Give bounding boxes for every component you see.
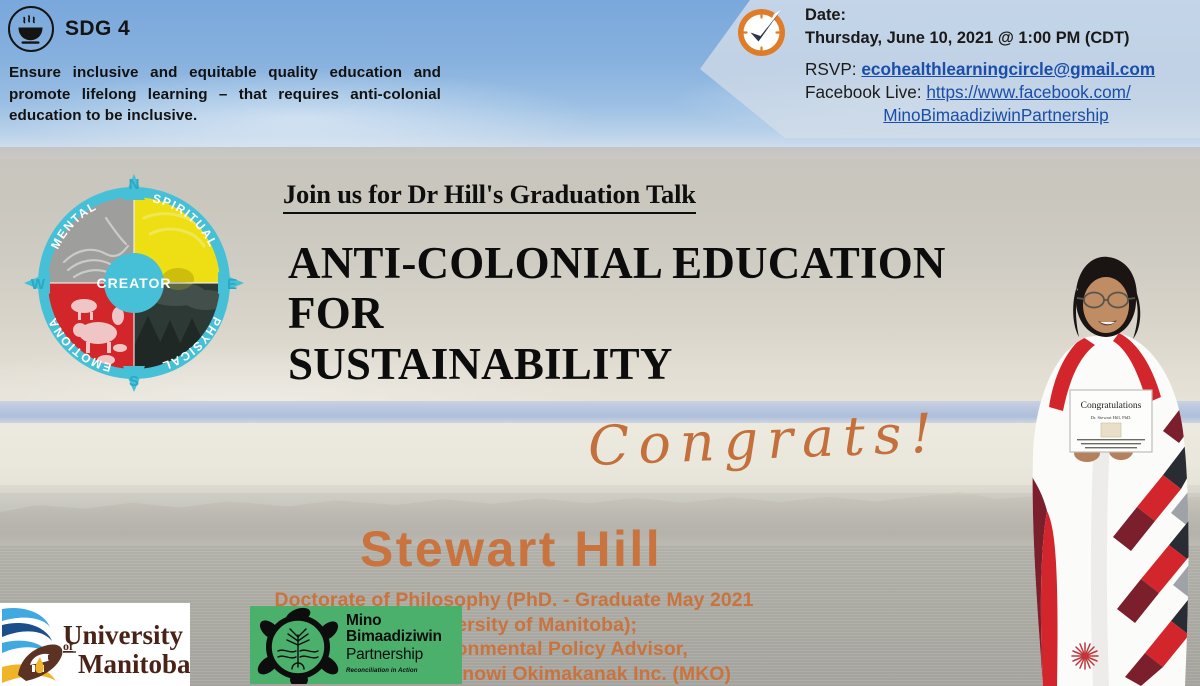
mino-line-1: Mino <box>346 613 442 629</box>
rsvp-label: RSVP: <box>805 59 861 79</box>
event-poster: SDG 4 Ensure inclusive and equitable qua… <box>0 0 1200 686</box>
rsvp-email-link[interactable]: ecohealthlearningcircle@gmail.com <box>861 59 1155 79</box>
title-line-3: SUSTAINABILITY <box>288 339 988 389</box>
uofm-wordmark-line1: University <box>63 620 183 650</box>
facebook-url-link-part2[interactable]: MinoBimaadiziwinPartnership <box>805 104 1200 127</box>
mino-line-2: Bimaadiziwin <box>346 629 442 645</box>
sdg-label: SDG 4 <box>65 17 130 41</box>
sdg-description: Ensure inclusive and equitable quality e… <box>9 62 441 127</box>
mino-line-3: Partnership <box>346 646 442 664</box>
date-label: Date: <box>805 4 1200 27</box>
page-title: ANTI-COLONIAL EDUCATION FOR SUSTAINABILI… <box>288 238 988 389</box>
speaker-name: Stewart Hill <box>0 520 1022 578</box>
wheel-center-label: CREATOR <box>97 275 172 291</box>
medicine-wheel-icon: CREATOR N S W E MENTAL SPIRITUAL PHYSICA… <box>6 158 262 408</box>
title-line-1: ANTI-COLONIAL EDUCATION <box>288 238 988 288</box>
uofm-wordmark-of: of <box>63 639 74 653</box>
mino-wordmark: Mino Bimaadiziwin Partnership Reconcilia… <box>346 613 442 674</box>
certificate-heading: Congratulations <box>1081 401 1142 411</box>
clock-check-icon <box>733 4 790 61</box>
facebook-line: Facebook Live: https://www.facebook.com/… <box>805 81 1200 127</box>
title-kicker: Join us for Dr Hill's Graduation Talk <box>283 179 696 214</box>
graduate-portrait-photo: Congratulations Dr. Stewart Hill, PhD. <box>1013 245 1200 686</box>
mino-tagline: Reconciliation in Action <box>346 667 442 674</box>
date-block: Date: Thursday, June 10, 2021 @ 1:00 PM … <box>805 4 1200 49</box>
svg-text:E: E <box>227 276 237 293</box>
university-of-manitoba-logo: University of Manitoba <box>0 603 190 686</box>
rsvp-line: RSVP: ecohealthlearningcircle@gmail.com <box>805 58 1200 81</box>
mino-bimaadiziwin-turtle-logo: Mino Bimaadiziwin Partnership Reconcilia… <box>250 606 462 684</box>
svg-text:W: W <box>31 276 46 293</box>
svg-text:S: S <box>129 373 139 390</box>
sdg-header: SDG 4 <box>8 6 130 52</box>
facebook-url-link-part1[interactable]: https://www.facebook.com/ <box>926 82 1130 102</box>
book-steam-icon <box>8 6 54 52</box>
uofm-wordmark-line2: Manitoba <box>78 649 190 679</box>
title-line-2: FOR <box>288 288 988 338</box>
date-value: Thursday, June 10, 2021 @ 1:00 PM (CDT) <box>805 27 1200 50</box>
svg-text:N: N <box>129 176 140 193</box>
facebook-label: Facebook Live: <box>805 82 926 102</box>
contact-block: RSVP: ecohealthlearningcircle@gmail.com … <box>805 58 1200 127</box>
